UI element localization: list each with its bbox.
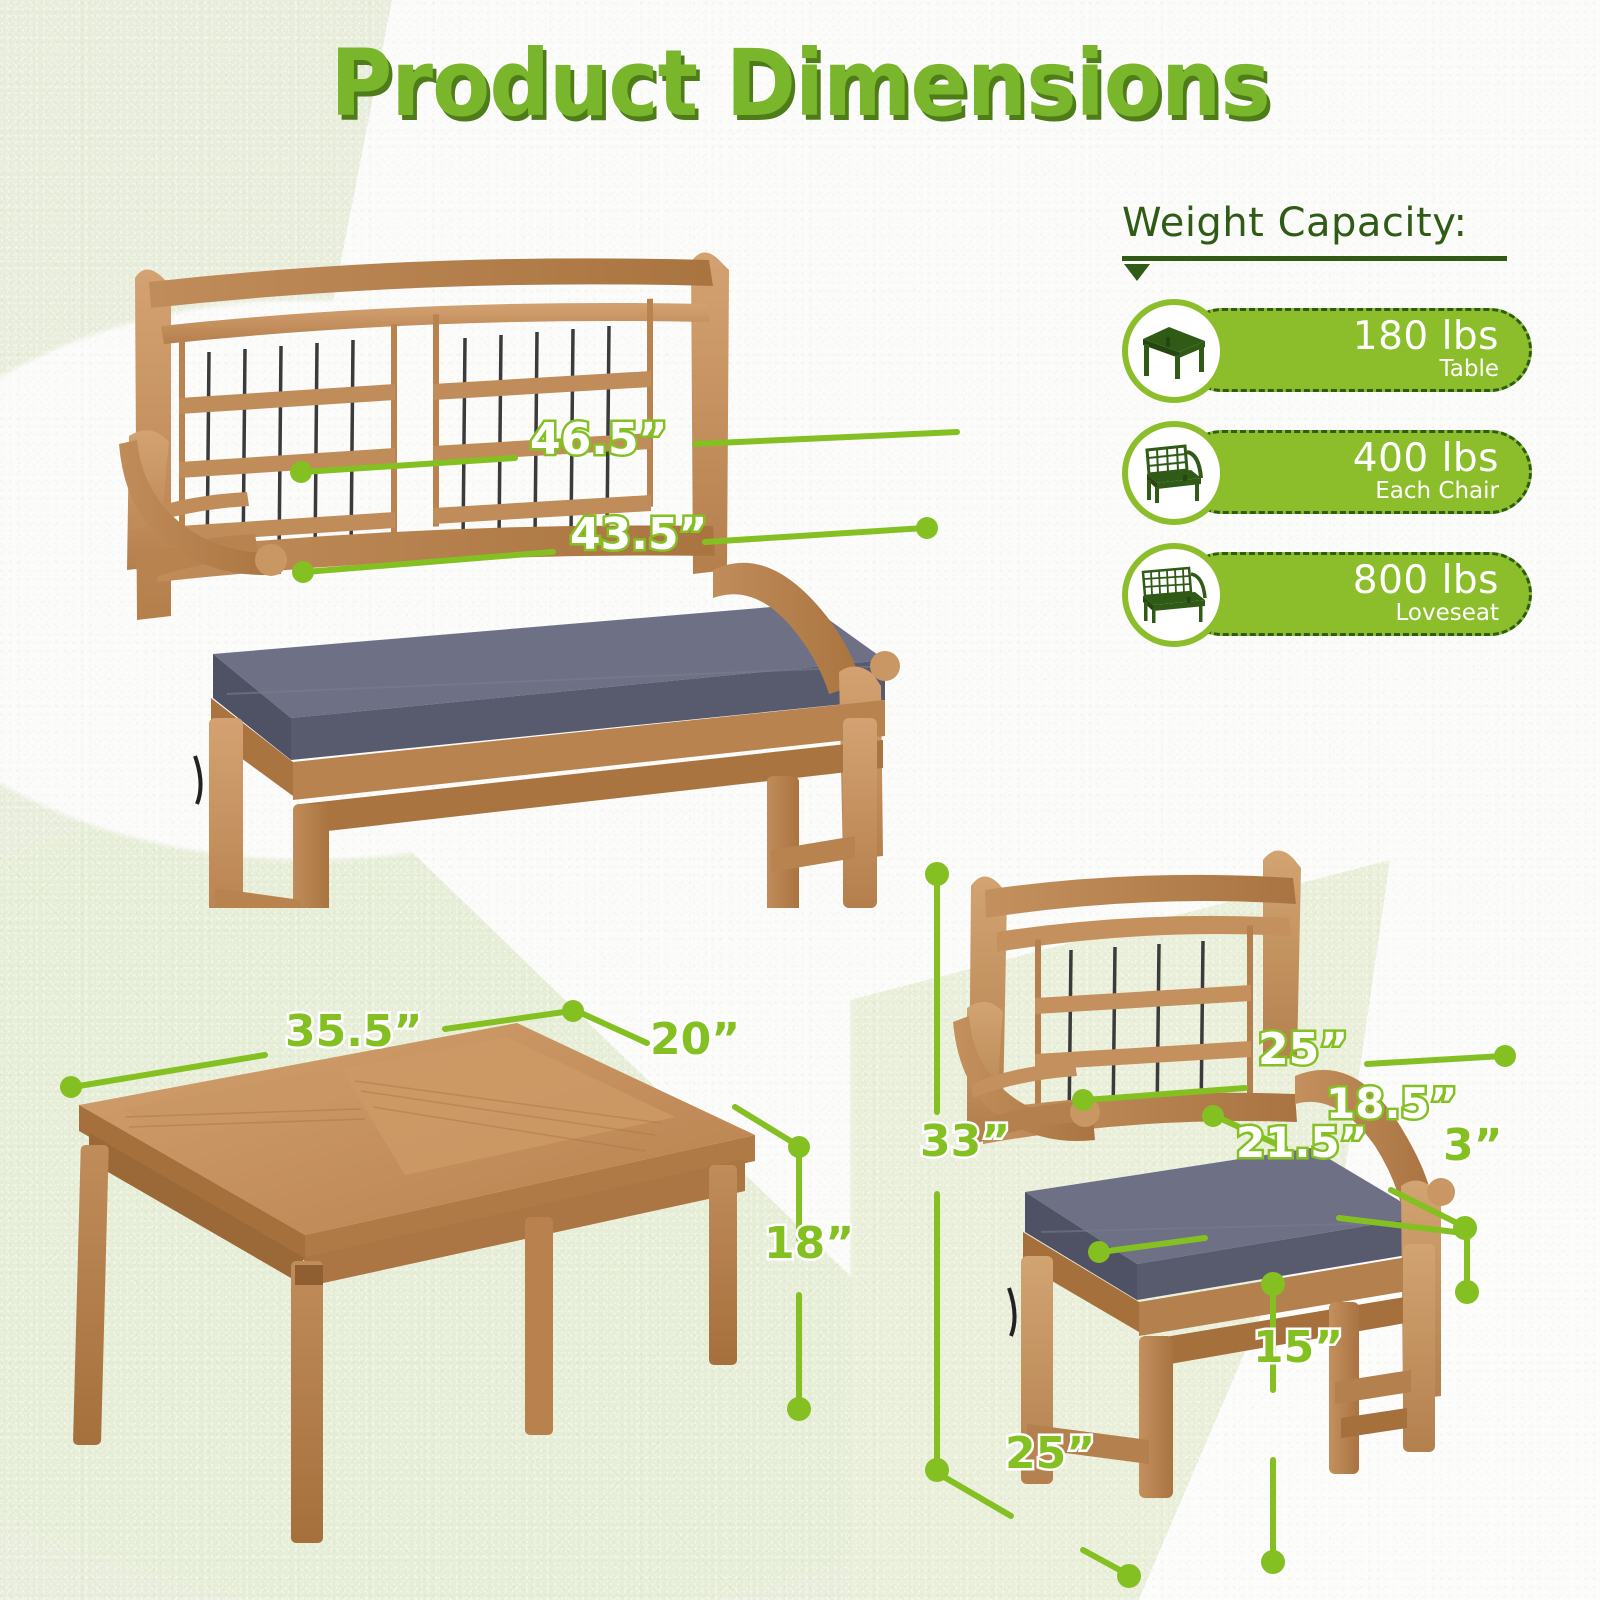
- page-title: Product Dimensions: [64, 38, 1536, 130]
- chair-dim-33-label: 33”: [920, 1120, 1010, 1164]
- chair-illustration: [925, 840, 1485, 1500]
- weight-capacity-item-chair: 400 lbs Each Chair: [1122, 421, 1542, 525]
- triangle-down-icon: [1124, 264, 1150, 281]
- weight-capacity-pill: 400 lbs Each Chair: [1180, 430, 1532, 514]
- table-icon: [1122, 299, 1226, 403]
- weight-capacity-value: 800 lbs: [1353, 562, 1499, 600]
- weight-capacity-panel: Weight Capacity: 180 lbs Table: [1122, 200, 1542, 647]
- loveseat-dim-46-5-label: 46.5”: [530, 418, 667, 462]
- weight-capacity-divider: [1122, 256, 1507, 261]
- table-dim-35-5-label: 35.5”: [285, 1010, 422, 1054]
- weight-capacity-item-loveseat: 800 lbs Loveseat: [1122, 543, 1542, 647]
- weight-capacity-value: 400 lbs: [1353, 440, 1499, 478]
- weight-capacity-heading: Weight Capacity:: [1122, 200, 1542, 246]
- loveseat-dim-43-5-label: 43.5”: [570, 513, 707, 557]
- chair-dim-21-5-label: 21.5”: [1236, 1122, 1367, 1164]
- chair-icon: [1122, 421, 1226, 525]
- weight-capacity-label: Loveseat: [1396, 600, 1500, 626]
- weight-capacity-pill: 800 lbs Loveseat: [1180, 552, 1532, 636]
- loveseat-icon: [1122, 543, 1226, 647]
- coffee-table-illustration: [55, 985, 795, 1545]
- weight-capacity-label: Each Chair: [1375, 478, 1499, 504]
- weight-capacity-pill: 180 lbs Table: [1180, 308, 1532, 392]
- chair-dim-15-label: 15”: [1253, 1326, 1343, 1370]
- table-dim-18-label: 18”: [764, 1222, 854, 1266]
- weight-capacity-label: Table: [1440, 356, 1499, 382]
- loveseat-illustration: [95, 248, 975, 908]
- table-icon-glyph: [1139, 320, 1209, 382]
- chair-dim-3-label: 3”: [1443, 1124, 1503, 1168]
- weight-capacity-item-table: 180 lbs Table: [1122, 299, 1542, 403]
- weight-capacity-value: 180 lbs: [1353, 318, 1499, 356]
- chair-icon-glyph: [1139, 442, 1209, 504]
- infographic-canvas: Product Dimensions: [0, 0, 1600, 1600]
- chair-dim-25-label: 25”: [1258, 1028, 1348, 1072]
- loveseat-icon-glyph: [1139, 564, 1209, 626]
- chair-dim-25-depth-label: 25”: [1005, 1432, 1095, 1476]
- table-dim-20-label: 20”: [650, 1018, 740, 1062]
